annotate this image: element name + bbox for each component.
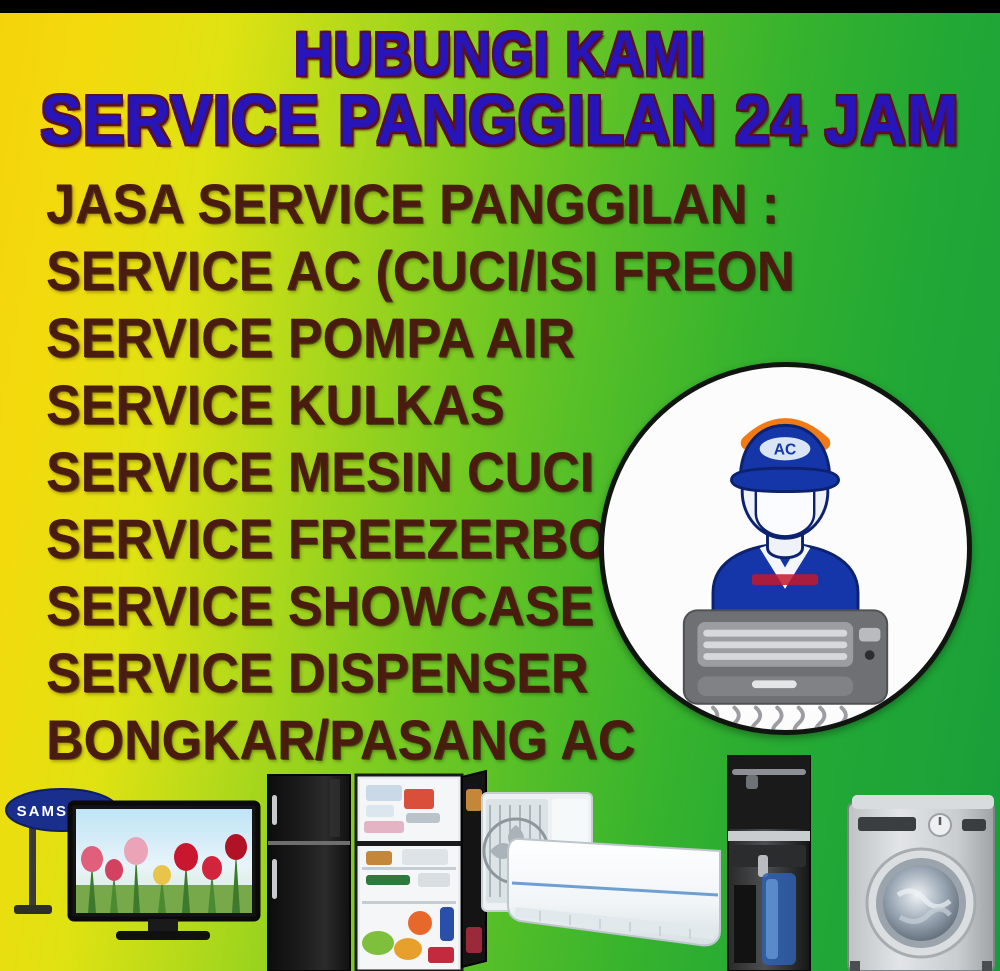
appliance-strip: SAMSUNG xyxy=(0,755,1000,971)
service-item-pompa-air: SERVICE POMPA AIR xyxy=(46,304,706,376)
chest-label xyxy=(752,574,818,585)
service-list-heading: JASA SERVICE PANGGILAN : xyxy=(46,170,706,242)
television xyxy=(70,803,258,940)
poster-root: HUBUNGI KAMI SERVICE PANGGILAN 24 JAM JA… xyxy=(0,0,1000,971)
service-list: JASA SERVICE PANGGILAN : SERVICE AC (CUC… xyxy=(46,172,706,775)
air-conditioner-split xyxy=(482,793,720,945)
washing-machine xyxy=(848,795,994,971)
water-dispenser xyxy=(728,755,810,971)
service-item-kulkas: SERVICE KULKAS xyxy=(46,371,706,443)
technician-avatar-icon: AC xyxy=(713,425,858,612)
headline-primary: HUBUNGI KAMI xyxy=(40,24,960,85)
cap-badge-label: AC xyxy=(774,442,796,459)
service-item-dispenser: SERVICE DISPENSER xyxy=(46,639,706,711)
air-conditioner-icon xyxy=(684,610,887,703)
refrigerator-open xyxy=(356,771,486,971)
service-item-ac: SERVICE AC (CUCI/ISI FREON xyxy=(46,237,706,309)
headline-secondary: SERVICE PANGGILAN 24 JAM xyxy=(5,87,995,156)
headline-block: HUBUNGI KAMI SERVICE PANGGILAN 24 JAM xyxy=(0,26,1000,153)
technician-badge: AC xyxy=(599,362,972,735)
refrigerator-closed xyxy=(268,775,350,971)
top-black-bar xyxy=(0,0,1000,13)
